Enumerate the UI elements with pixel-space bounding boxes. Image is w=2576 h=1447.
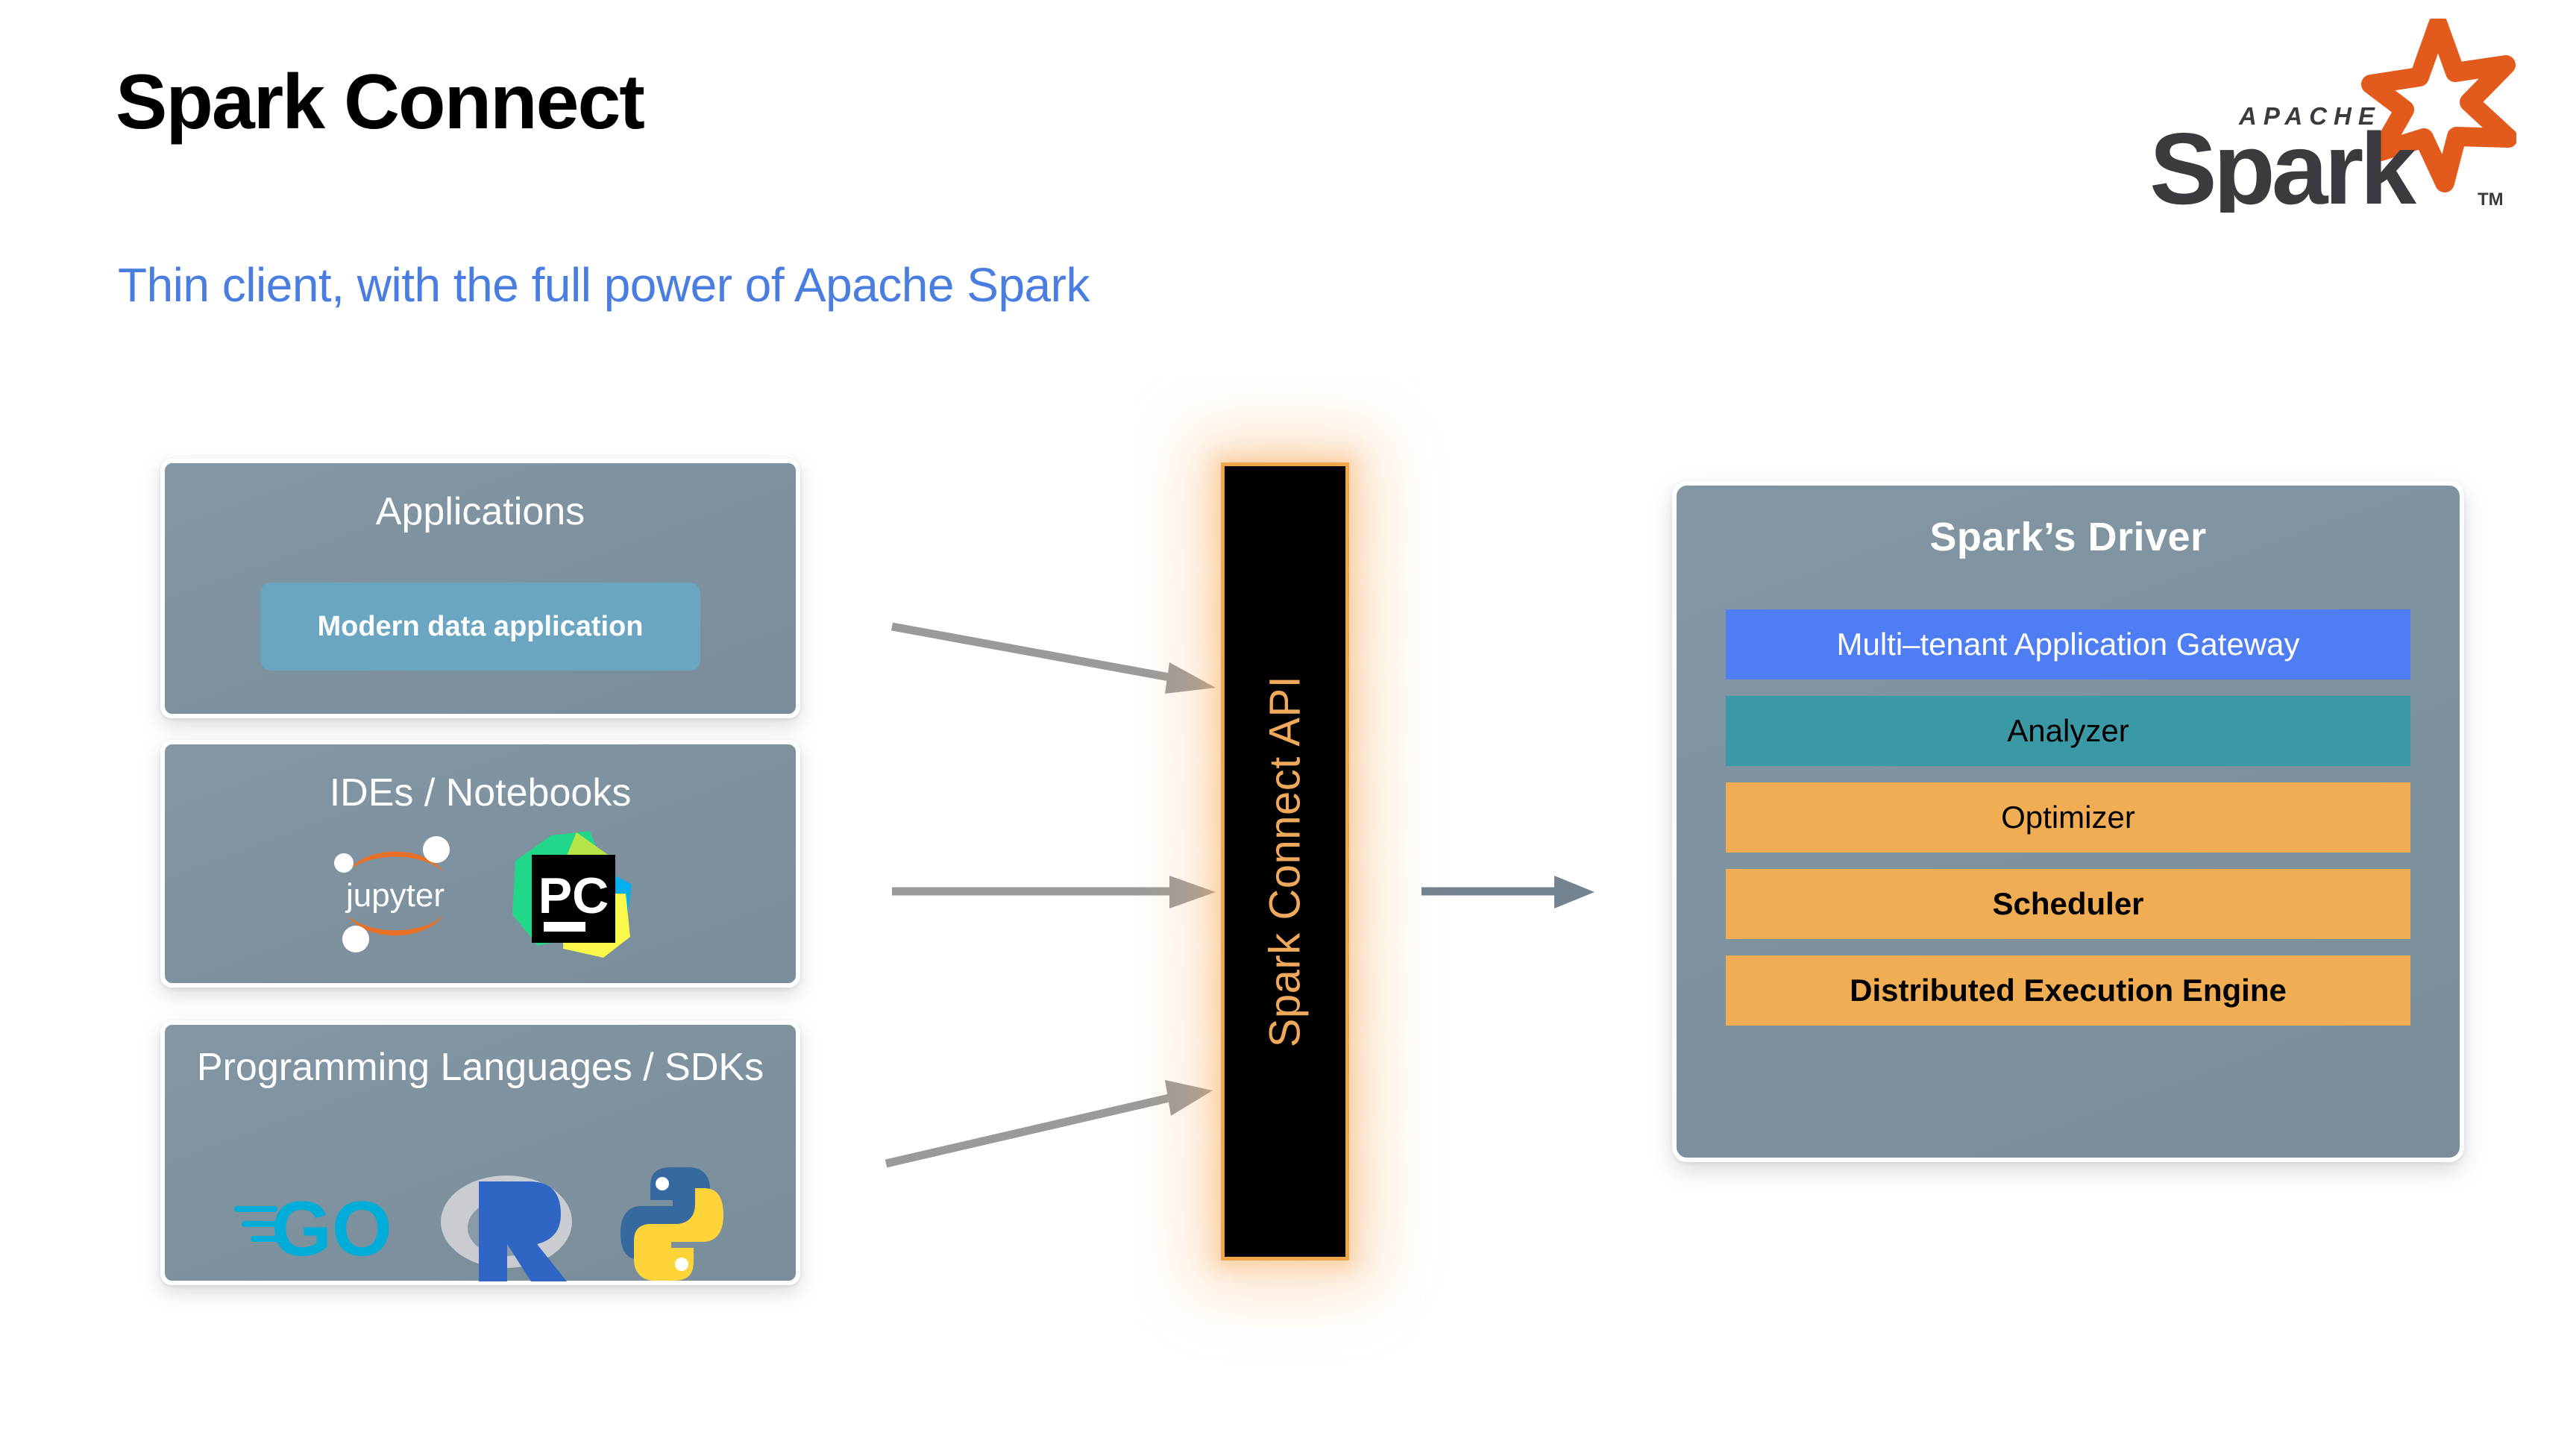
driver-row-label: Distributed Execution Engine bbox=[1850, 973, 2287, 1008]
arrow-applications-to-api bbox=[888, 619, 1231, 716]
ides-logo-row: jupyter PC bbox=[165, 825, 796, 964]
driver-row-label: Analyzer bbox=[2007, 713, 2129, 749]
spark-wordmark: Spark bbox=[2149, 112, 2416, 213]
arrow-languages-to-api bbox=[880, 1059, 1231, 1171]
driver-row-optimizer[interactable]: Optimizer bbox=[1726, 782, 2410, 853]
client-card-applications[interactable]: Applications Modern data application bbox=[160, 459, 800, 718]
driver-row-gateway[interactable]: Multi–tenant Application Gateway bbox=[1726, 609, 2410, 679]
trademark-mark: TM bbox=[2478, 189, 2504, 210]
card-title-programming-languages: Programming Languages / SDKs bbox=[165, 1025, 796, 1090]
spark-connect-api-label: Spark Connect API bbox=[1260, 676, 1310, 1048]
pycharm-logo: PC bbox=[508, 825, 636, 964]
page-title: Spark Connect bbox=[116, 63, 644, 141]
chip-label: Modern data application bbox=[317, 611, 643, 643]
spark-driver-panel[interactable]: Spark’s Driver Multi–tenant Application … bbox=[1672, 481, 2464, 1162]
driver-row-label: Optimizer bbox=[2001, 800, 2135, 835]
spark-driver-title: Spark’s Driver bbox=[1677, 486, 2460, 560]
languages-logo-row: GO bbox=[165, 1161, 796, 1291]
slide-canvas: Spark Connect Thin client, with the full… bbox=[0, 0, 2576, 1447]
arrow-ides-to-api bbox=[888, 865, 1231, 917]
page-subtitle: Thin client, with the full power of Apac… bbox=[118, 257, 1090, 313]
card-title-applications: Applications bbox=[165, 463, 796, 535]
spark-connect-api-bar[interactable]: Spark Connect API bbox=[1221, 462, 1349, 1261]
jupyter-logo-label: jupyter bbox=[345, 877, 444, 914]
client-card-ides-notebooks[interactable]: IDEs / Notebooks jupyter bbox=[160, 740, 800, 988]
driver-row-scheduler[interactable]: Scheduler bbox=[1726, 869, 2410, 939]
go-logo-label: GO bbox=[271, 1186, 392, 1272]
driver-row-distributed-execution-engine[interactable]: Distributed Execution Engine bbox=[1726, 955, 2410, 1026]
modern-data-application-chip[interactable]: Modern data application bbox=[260, 583, 700, 671]
driver-row-label: Multi–tenant Application Gateway bbox=[1836, 627, 2299, 662]
driver-row-analyzer[interactable]: Analyzer bbox=[1726, 696, 2410, 766]
client-card-programming-languages[interactable]: Programming Languages / SDKs GO bbox=[160, 1020, 800, 1285]
r-logo bbox=[436, 1161, 585, 1291]
apache-spark-logo: APACHE Spark TM bbox=[2143, 19, 2516, 213]
python-logo bbox=[616, 1164, 728, 1287]
go-logo: GO bbox=[233, 1172, 404, 1280]
card-title-ides-notebooks: IDEs / Notebooks bbox=[165, 744, 796, 816]
jupyter-logo: jupyter bbox=[324, 826, 466, 964]
driver-row-label: Scheduler bbox=[1992, 886, 2143, 922]
driver-component-list: Multi–tenant Application Gateway Analyze… bbox=[1726, 609, 2410, 1026]
pycharm-logo-label: PC bbox=[538, 867, 609, 924]
arrow-api-to-driver bbox=[1419, 865, 1605, 917]
